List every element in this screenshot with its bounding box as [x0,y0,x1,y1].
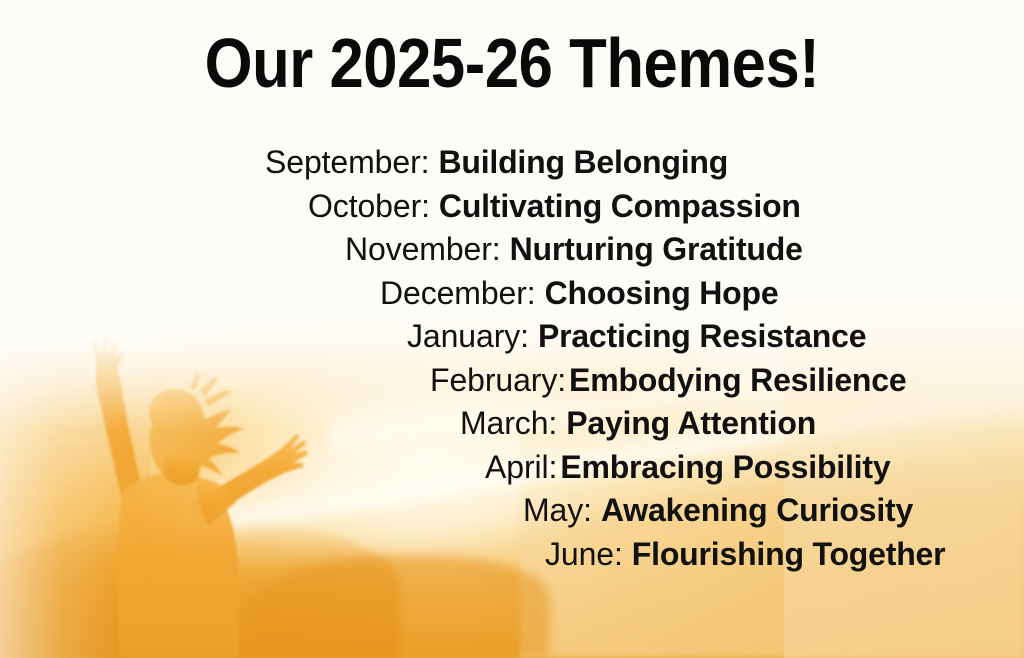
theme-name: Practicing Resistance [538,318,866,354]
theme-name: Embodying Resilience [569,362,906,398]
theme-name: Cultivating Compassion [439,188,801,224]
theme-month: May: [523,492,592,528]
theme-list: September:Building Belonging October:Cul… [0,141,1024,576]
theme-name: Choosing Hope [545,275,779,311]
theme-month: November: [345,231,501,267]
theme-line: October:Cultivating Compassion [0,185,1024,229]
theme-month: June: [545,536,623,572]
theme-month: October: [308,188,430,224]
theme-name: Flourishing Together [632,536,946,572]
theme-line: June:Flourishing Together [0,533,1024,577]
theme-name: Building Belonging [438,144,728,180]
theme-name: Awakening Curiosity [601,492,913,528]
theme-line: May:Awakening Curiosity [0,489,1024,533]
theme-line: September:Building Belonging [0,141,1024,185]
theme-name: Paying Attention [566,405,816,441]
page-title: Our 2025-26 Themes! [61,28,962,98]
theme-line: February:Embodying Resilience [0,359,1024,403]
theme-name: Embracing Possibility [560,449,890,485]
theme-line: April:Embracing Possibility [0,446,1024,490]
theme-name: Nurturing Gratitude [510,231,803,267]
theme-line: March:Paying Attention [0,402,1024,446]
theme-month: February: [430,362,566,398]
theme-line: December:Choosing Hope [0,272,1024,316]
theme-month: September: [265,144,429,180]
themes-slide: Our 2025-26 Themes! September:Building B… [0,0,1024,658]
theme-month: March: [460,405,557,441]
theme-line: January:Practicing Resistance [0,315,1024,359]
theme-month: April: [485,449,557,485]
theme-line: November:Nurturing Gratitude [0,228,1024,272]
theme-month: December: [380,275,536,311]
theme-month: January: [407,318,529,354]
